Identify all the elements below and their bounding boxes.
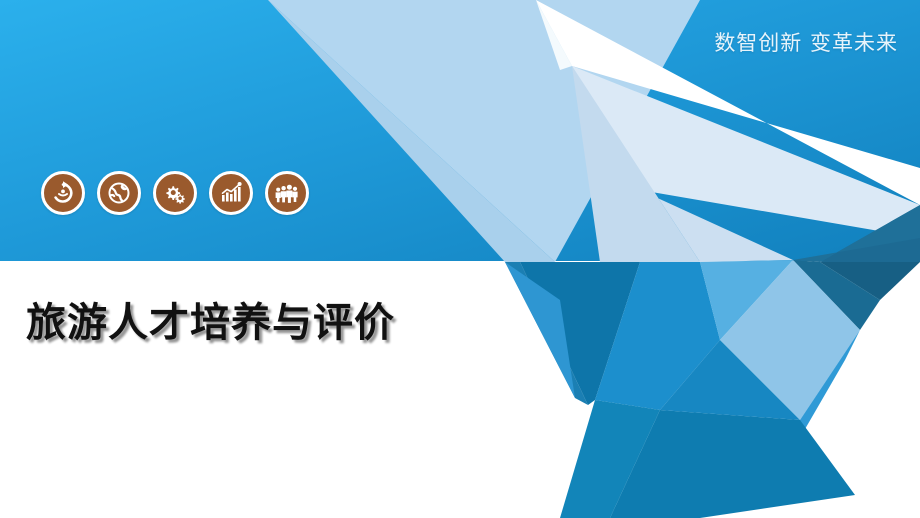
recycle-arrows-icon[interactable] <box>41 171 85 215</box>
people-group-icon[interactable] <box>265 171 309 215</box>
gears-icon[interactable] <box>153 171 197 215</box>
icon-badge-row <box>41 171 309 215</box>
bar-chart-icon[interactable] <box>209 171 253 215</box>
background-geometric-artwork <box>0 0 920 518</box>
page-title: 旅游人才培养与评价 <box>26 290 395 348</box>
slide-tagline: 数智创新 变革未来 <box>714 27 898 57</box>
presentation-slide: 数智创新 变革未来 <box>0 0 920 518</box>
globe-icon[interactable] <box>97 171 141 215</box>
